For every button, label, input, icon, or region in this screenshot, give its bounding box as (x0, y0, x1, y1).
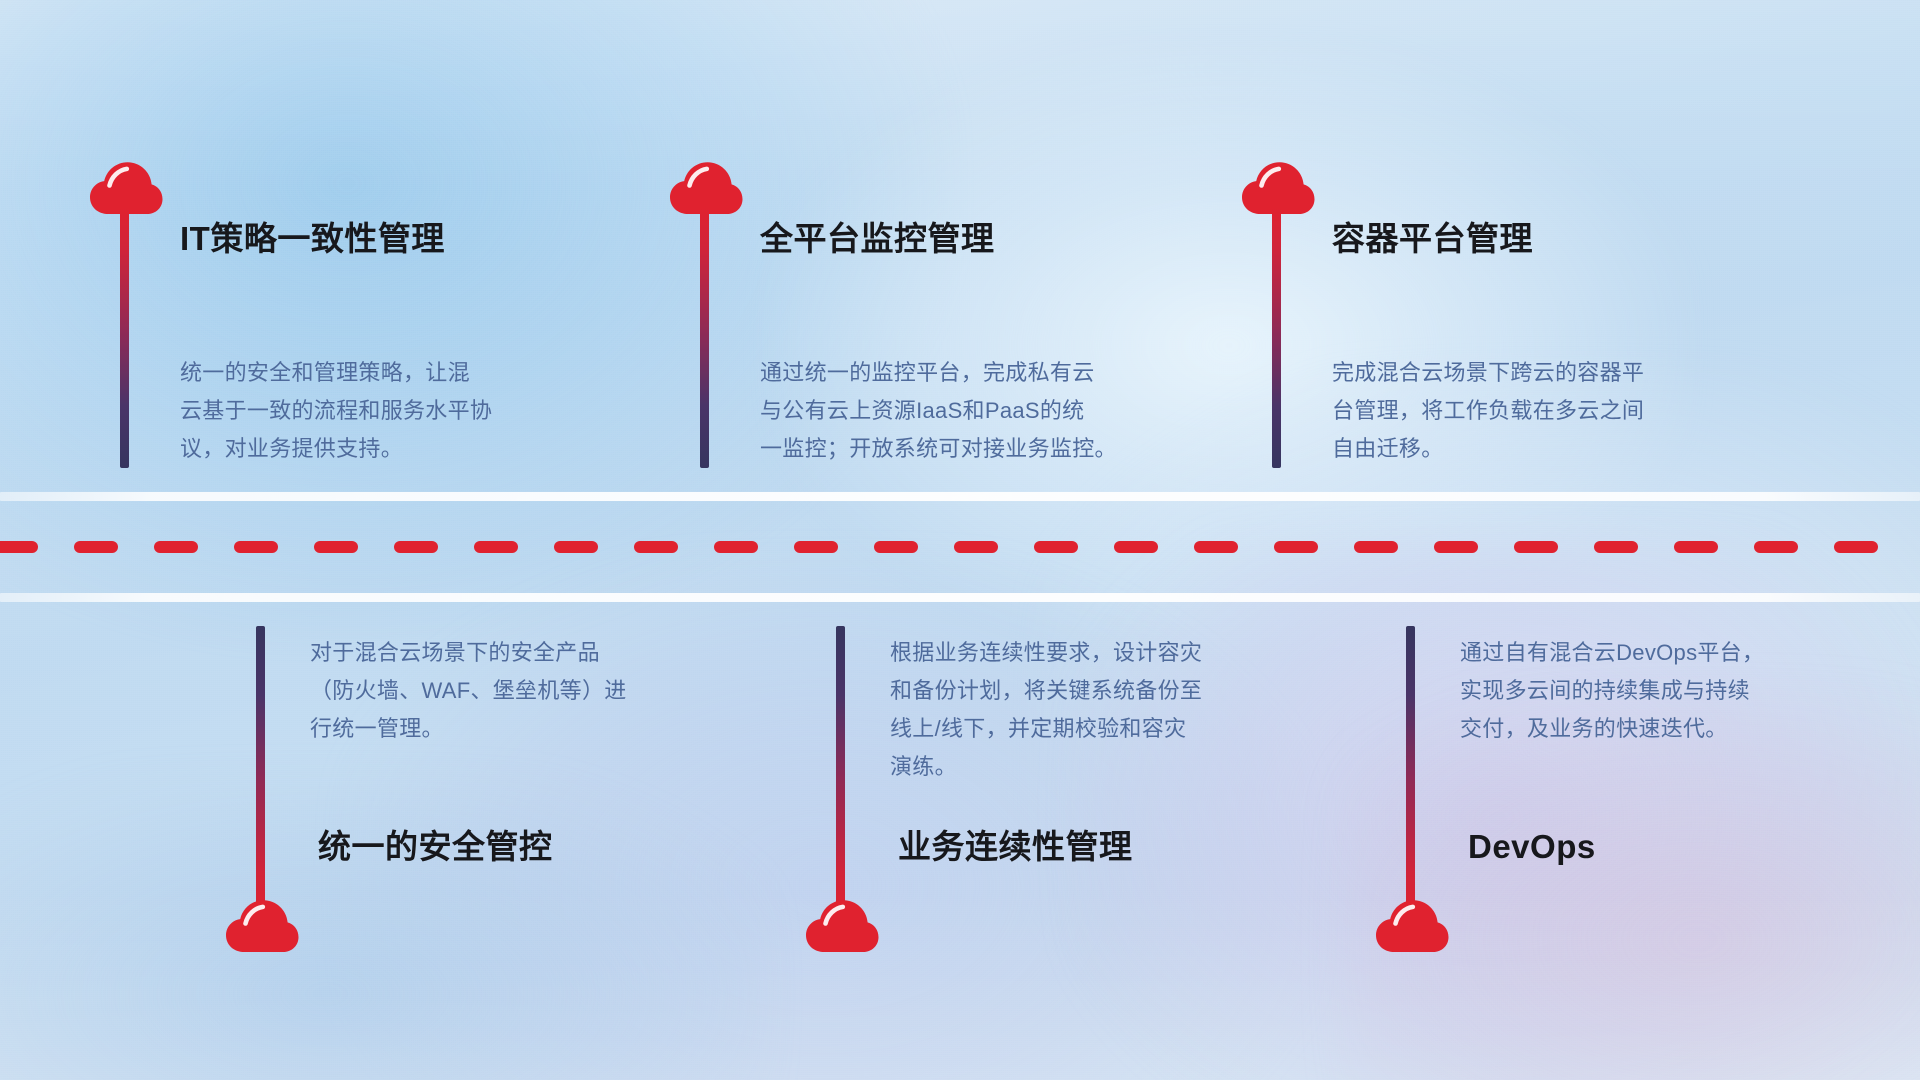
divider-dash-segment (1114, 541, 1159, 553)
feature-description: 统一的安全和管理策略，让混 云基于一致的流程和服务水平协 议，对业务提供支持。 (180, 354, 620, 468)
divider-dash-segment (1514, 541, 1559, 553)
divider-dash-segment (0, 541, 38, 553)
divider-dash-segment (954, 541, 999, 553)
cloud-pin-icon (224, 898, 300, 954)
divider-dash-segment (874, 541, 919, 553)
connector-stem (1272, 208, 1281, 468)
divider-dash-segment (634, 541, 679, 553)
divider-dashed-line (0, 541, 1920, 553)
feature-description: 完成混合云场景下跨云的容器平 台管理，将工作负载在多云之间 自由迁移。 (1332, 354, 1772, 468)
divider-dash-segment (554, 541, 599, 553)
divider-dash-segment (394, 541, 439, 553)
divider-dash-segment (1674, 541, 1719, 553)
divider-dash-segment (794, 541, 839, 553)
divider-dash-segment (74, 541, 119, 553)
cloud-pin-icon (1374, 898, 1450, 954)
divider-dash-segment (1754, 541, 1799, 553)
divider-dash-segment (1194, 541, 1239, 553)
divider-bar-bottom (0, 593, 1920, 602)
feature-description: 对于混合云场景下的安全产品 （防火墙、WAF、堡垒机等）进 行统一管理。 (310, 634, 760, 748)
divider-dash-segment (1434, 541, 1479, 553)
divider-dash-segment (1034, 541, 1079, 553)
connector-stem (836, 626, 845, 916)
divider-dash-segment (1274, 541, 1319, 553)
feature-title: DevOps (1468, 830, 1596, 863)
connector-stem (1406, 626, 1415, 916)
feature-description: 通过统一的监控平台，完成私有云 与公有云上资源IaaS和PaaS的统 一监控；开… (760, 354, 1210, 468)
divider-dash-segment (1594, 541, 1639, 553)
connector-stem (700, 208, 709, 468)
divider-dash-segment (154, 541, 199, 553)
divider-dash-segment (714, 541, 759, 553)
section-divider (0, 492, 1920, 602)
divider-dash-segment (474, 541, 519, 553)
feature-description: 通过自有混合云DevOps平台， 实现多云间的持续集成与持续 交付，及业务的快速… (1460, 634, 1910, 748)
cloud-pin-icon (804, 898, 880, 954)
connector-stem (120, 208, 129, 468)
feature-description: 根据业务连续性要求，设计容灾 和备份计划，将关键系统备份至 线上/线下，并定期校… (890, 634, 1340, 786)
divider-dash-segment (234, 541, 279, 553)
feature-title: 统一的安全管控 (318, 830, 553, 863)
connector-stem (256, 626, 265, 916)
feature-title: 容器平台管理 (1332, 222, 1533, 255)
divider-dash-segment (1834, 541, 1879, 553)
divider-dash-segment (1354, 541, 1399, 553)
divider-dash-segment (314, 541, 359, 553)
feature-title: 业务连续性管理 (898, 830, 1133, 863)
infographic-canvas: IT策略一致性管理 统一的安全和管理策略，让混 云基于一致的流程和服务水平协 议… (0, 0, 1920, 1080)
feature-title: IT策略一致性管理 (180, 222, 445, 255)
divider-bar-top (0, 492, 1920, 501)
feature-title: 全平台监控管理 (760, 222, 995, 255)
